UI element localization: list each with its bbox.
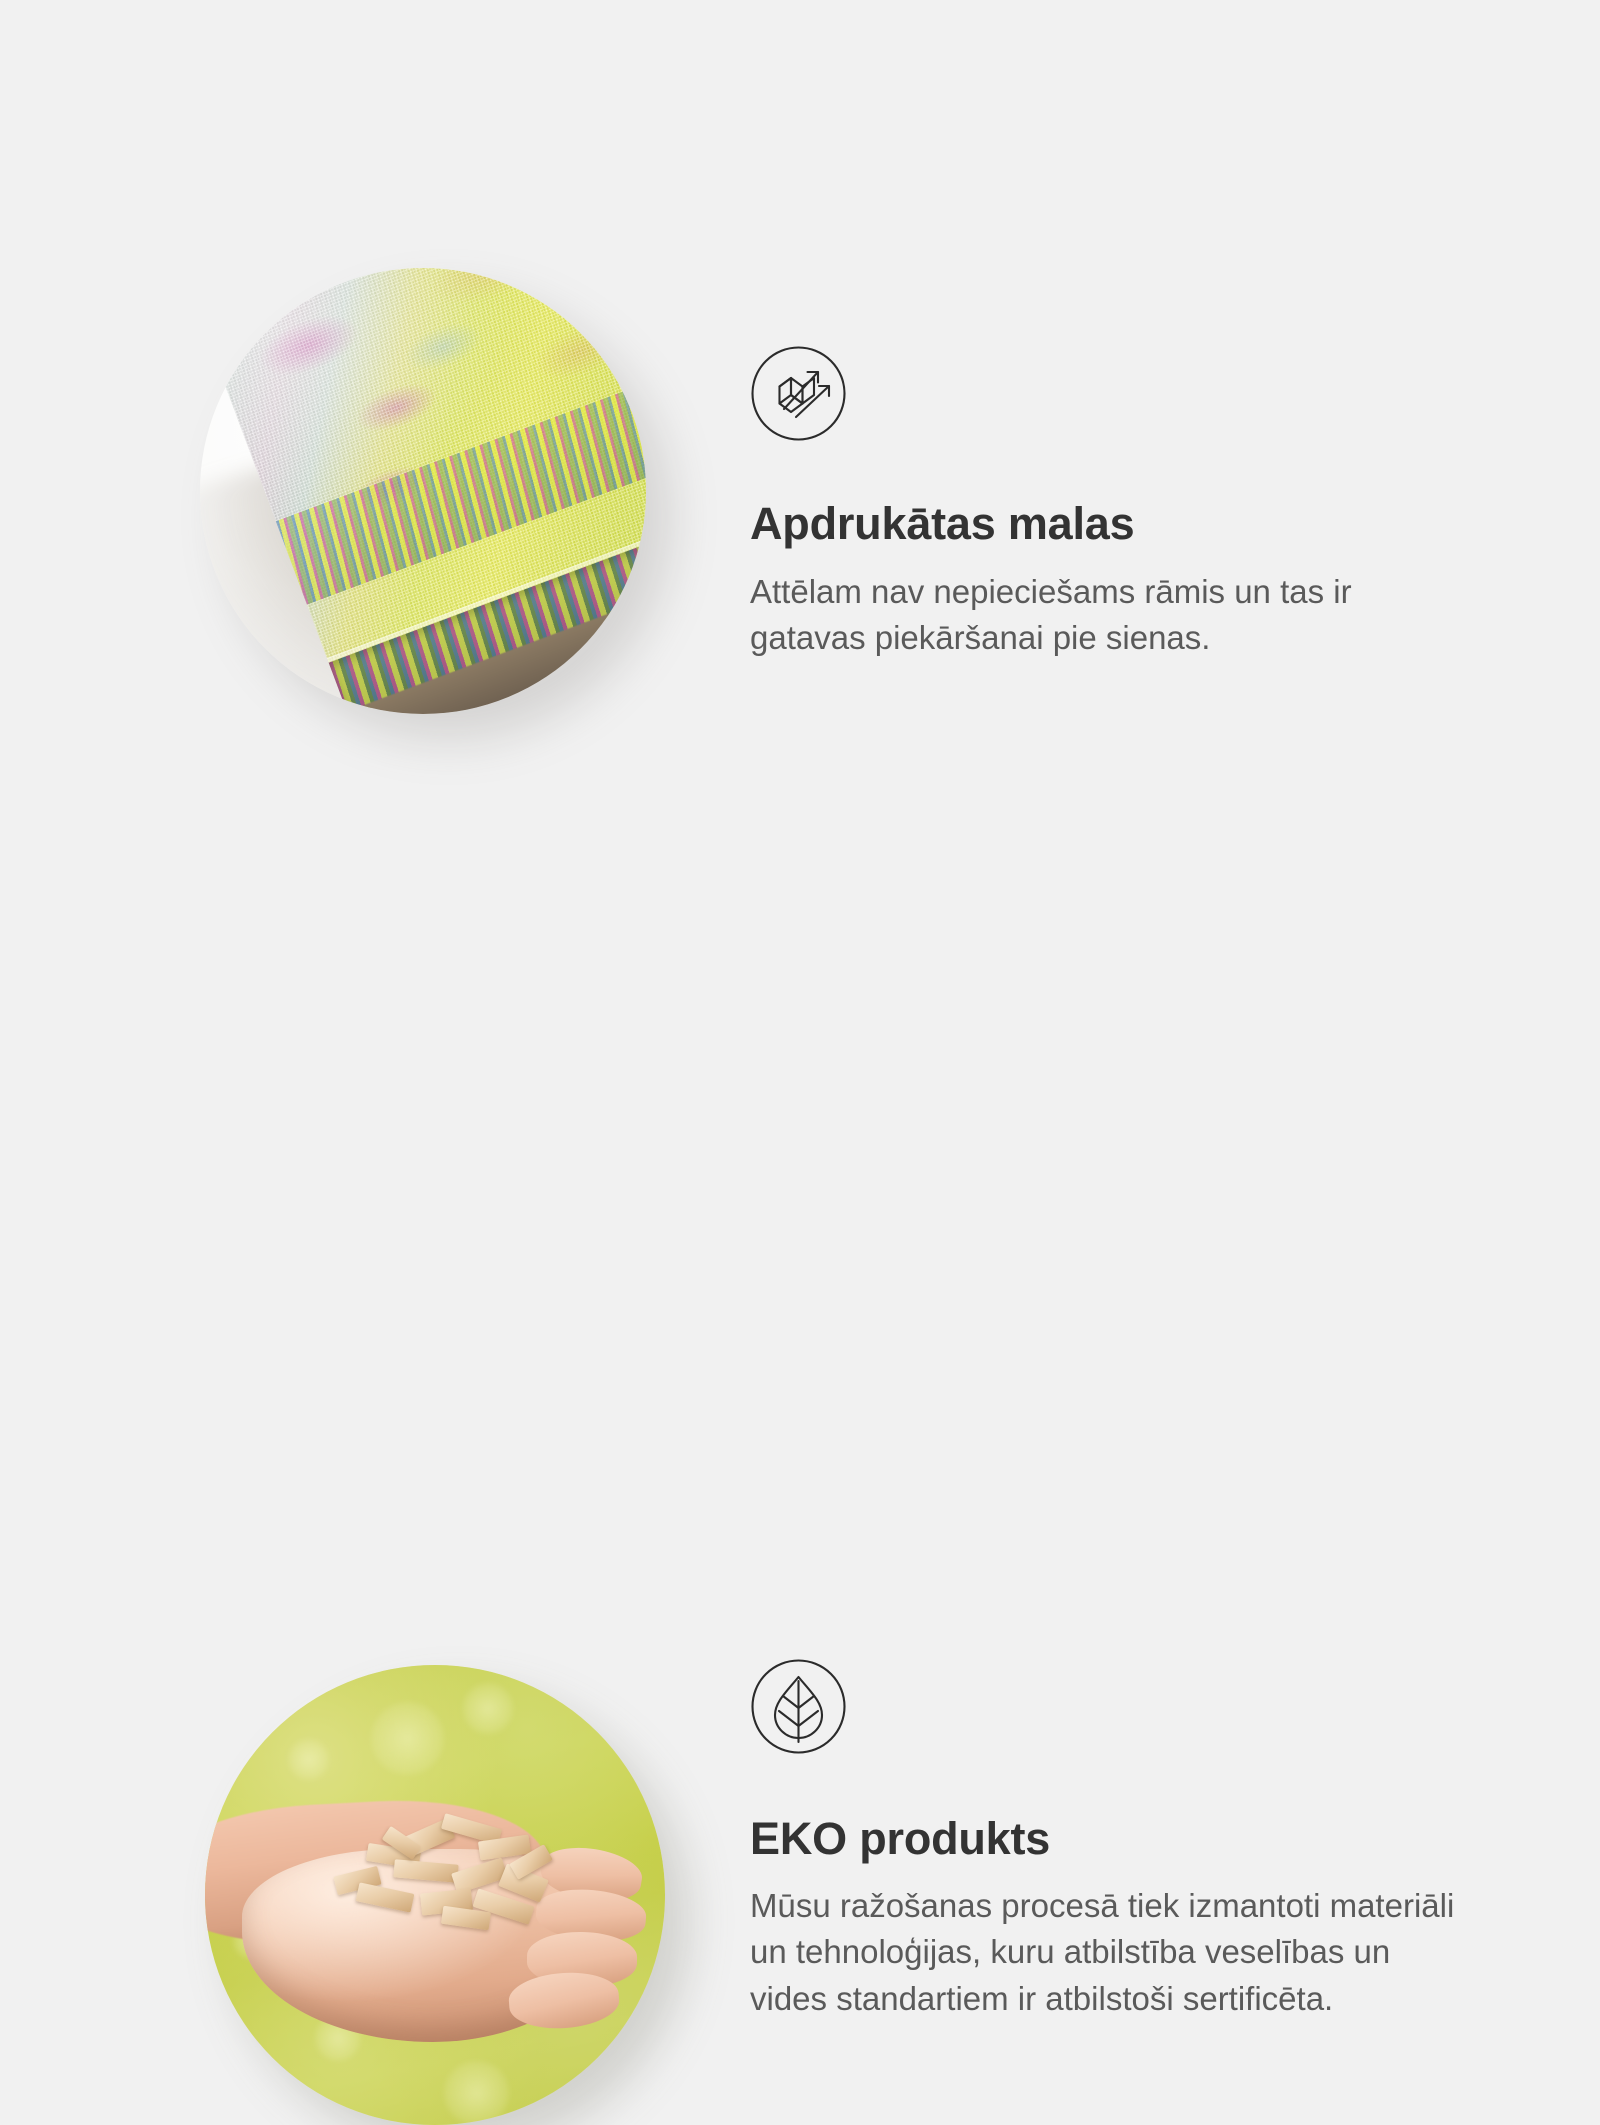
hand-with-wood-chips-photo <box>205 1665 665 2125</box>
printed-edges-icon <box>750 345 847 442</box>
leaf-icon <box>750 1658 847 1755</box>
feature-text-eko-product: EKO produkts Mūsu ražošanas procesā tiek… <box>750 1658 1490 2023</box>
bokeh-light <box>288 1739 329 1780</box>
feature-description: Attēlam nav nepieciešams rāmis un tas ir… <box>750 569 1466 663</box>
bokeh-light <box>444 2061 508 2125</box>
feature-title: Apdrukātas malas <box>750 499 1490 549</box>
feature-title: EKO produkts <box>750 1814 1490 1864</box>
feature-block-eko-product: EKO produkts Mūsu ražošanas procesā tiek… <box>0 800 1600 1600</box>
wood-chip-pile <box>325 1803 592 1950</box>
wood-chip <box>393 1859 458 1882</box>
canvas-print-corner-photo <box>200 268 646 714</box>
feature-page: Apdrukātas malas Attēlam nav nepieciešam… <box>0 0 1600 1600</box>
bokeh-light <box>371 1702 445 1776</box>
wood-chip <box>355 1883 414 1913</box>
feature-text-printed-edges: Apdrukātas malas Attēlam nav nepieciešam… <box>750 345 1490 662</box>
feature-description: Mūsu ražošanas procesā tiek izmantoti ma… <box>750 1883 1466 2024</box>
bokeh-light <box>463 1683 514 1734</box>
feature-block-printed-edges: Apdrukātas malas Attēlam nav nepieciešam… <box>0 0 1600 800</box>
